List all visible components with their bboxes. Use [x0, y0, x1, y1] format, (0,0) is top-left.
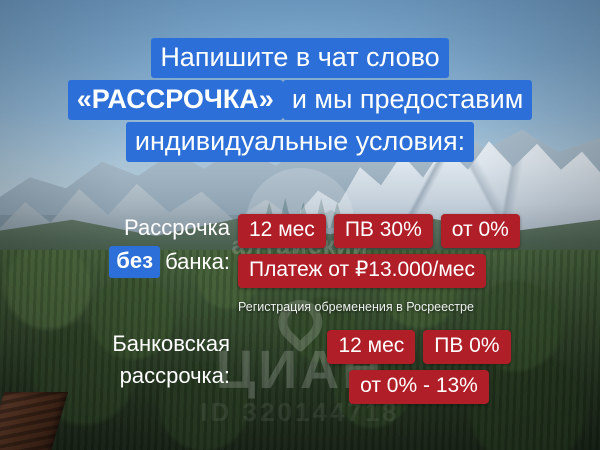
content-layer: Напишите в чат слово «РАССРОЧКА» и мы пр…: [0, 0, 600, 450]
offer-label-chip: без: [109, 246, 160, 279]
offer-label-text: Рассрочка: [124, 214, 230, 243]
headline-segment: Напишите в чат слово: [151, 38, 448, 78]
badge-row: 12 мес ПВ 0%: [327, 330, 510, 364]
offer-no-bank-installment: Рассрочка без банка: 12 мес ПВ 30% от 0%…: [0, 214, 600, 315]
headline-segment-keyword: «РАССРОЧКА»: [68, 80, 283, 120]
badge-row: от 0% - 13%: [349, 370, 489, 404]
badge-term: 12 мес: [238, 214, 326, 248]
offer-label-line-2: рассрочка:: [120, 362, 230, 391]
headline-segment: индивидуальные условия:: [126, 122, 474, 162]
offer-label-text: банка:: [165, 248, 230, 277]
badge-rate: от 0%: [441, 214, 520, 248]
headline-segment: и мы предоставим: [283, 80, 532, 120]
offer-label: Рассрочка без банка:: [0, 214, 238, 278]
offer-badges: 12 мес ПВ 30% от 0% Платеж от ₽13.000/ме…: [238, 214, 600, 315]
headline: Напишите в чат слово «РАССРОЧКА» и мы пр…: [0, 38, 600, 162]
badge-downpayment: ПВ 0%: [423, 330, 510, 364]
offer-label: Банковская рассрочка:: [0, 330, 238, 390]
offer-label-line-1: Рассрочка: [124, 214, 230, 243]
badge-monthly-payment: Платеж от ₽13.000/мес: [238, 254, 486, 288]
badge-downpayment: ПВ 30%: [334, 214, 433, 248]
headline-line-1: Напишите в чат слово: [151, 38, 448, 78]
offer-label-line-2: без банка:: [109, 246, 230, 279]
badge-term: 12 мес: [327, 330, 415, 364]
badge-rate-range: от 0% - 13%: [349, 370, 489, 404]
offer-note: Регистрация обременения в Росреестре: [238, 299, 474, 315]
headline-line-3: индивидуальные условия:: [126, 122, 474, 162]
offer-label-text: рассрочка:: [120, 362, 230, 391]
offer-label-line-1: Банковская: [112, 330, 230, 359]
headline-line-2: «РАССРОЧКА» и мы предоставим: [68, 80, 533, 120]
badge-row: 12 мес ПВ 30% от 0%: [238, 214, 520, 248]
offer-badges: 12 мес ПВ 0% от 0% - 13%: [238, 330, 600, 404]
offer-bank-installment: Банковская рассрочка: 12 мес ПВ 0% от 0%…: [0, 330, 600, 404]
badge-row: Платеж от ₽13.000/мес: [238, 254, 486, 288]
offer-label-text: Банковская: [112, 330, 230, 359]
promo-banner: алтайский ЦИАН ID 320144718 Напишите в ч…: [0, 0, 600, 450]
